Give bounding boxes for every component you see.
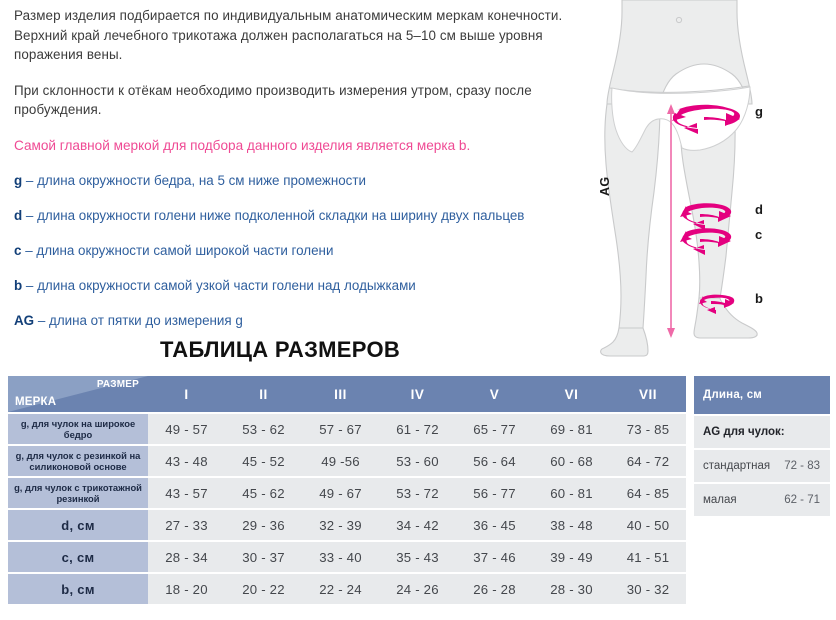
figure-label-b: b <box>755 291 763 306</box>
female-legs-diagram <box>600 0 836 362</box>
cell-r4c2: 33 - 40 <box>302 542 379 572</box>
figure-label-g: g <box>755 104 763 119</box>
cell-r4c3: 35 - 43 <box>379 542 456 572</box>
size-table-title: ТАБЛИЦА РАЗМЕРОВ <box>0 337 560 363</box>
cell-r5c6: 30 - 32 <box>610 574 686 604</box>
cell-r4c1: 30 - 37 <box>225 542 302 572</box>
cell-r5c3: 24 - 26 <box>379 574 456 604</box>
ag-arrow-head-bottom <box>667 328 675 338</box>
definition-text-b: длина окружности самой узкой части голен… <box>37 278 416 293</box>
cell-r3c0: 27 - 33 <box>148 510 225 540</box>
cell-r3c2: 32 - 39 <box>302 510 379 540</box>
cell-r3c6: 40 - 50 <box>610 510 686 540</box>
figure-label-c: c <box>755 227 762 242</box>
definition-text-c: длина окружности самой широкой части гол… <box>36 243 333 258</box>
spacer-row <box>694 552 830 584</box>
leg-measurement-illustration: g d c b AG <box>600 0 836 362</box>
definition-g: g – длина окружности бедра, на 5 см ниже… <box>14 172 610 190</box>
cell-r2c5: 60 - 81 <box>533 478 610 508</box>
intro-paragraph-2: При склонности к отёкам необходимо произ… <box>14 81 610 120</box>
cell-r4c6: 41 - 51 <box>610 542 686 572</box>
cell-r3c1: 29 - 36 <box>225 510 302 540</box>
header-label-merka: МЕРКА <box>15 396 56 408</box>
header-size-2: II <box>225 376 302 412</box>
definition-key-d: d <box>14 208 22 223</box>
row-label-d: d, см <box>8 510 148 540</box>
table-row: g, для чулок с резинкой на силиконовой о… <box>8 446 686 476</box>
definition-ag: AG – длина от пятки до измерения g <box>14 312 610 330</box>
list-item: стандартная 72 - 83 <box>694 450 830 482</box>
table-row: d, см 27 - 33 29 - 36 32 - 39 34 - 42 36… <box>8 510 686 540</box>
length-row-standard: стандартная 72 - 83 <box>694 450 830 482</box>
definition-text-g: длина окружности бедра, на 5 см ниже про… <box>37 173 366 188</box>
cell-r1c0: 43 - 48 <box>148 446 225 476</box>
spacer-cell <box>694 518 830 550</box>
length-row-small-name: малая <box>703 494 737 506</box>
cell-r3c3: 34 - 42 <box>379 510 456 540</box>
row-label-c: c, см <box>8 542 148 572</box>
size-table-header-row: РАЗМЕР МЕРКА I II III IV V VI VII <box>8 376 686 412</box>
table-row: g, для чулок на широкое бедро 49 - 57 53… <box>8 414 686 444</box>
cell-r5c0: 18 - 20 <box>148 574 225 604</box>
cell-r0c4: 65 - 77 <box>456 414 533 444</box>
header-size-5: V <box>456 376 533 412</box>
definition-dash-d: – <box>26 208 33 223</box>
header-size-7: VII <box>610 376 686 412</box>
definition-key-ag: AG <box>14 313 34 328</box>
cell-r1c5: 60 - 68 <box>533 446 610 476</box>
length-row-small-value: 62 - 71 <box>784 494 829 506</box>
cell-r0c0: 49 - 57 <box>148 414 225 444</box>
spacer-row <box>694 586 830 618</box>
cell-r2c4: 56 - 77 <box>456 478 533 508</box>
length-header: Длина, см <box>694 376 830 414</box>
cell-r0c1: 53 - 62 <box>225 414 302 444</box>
cell-r3c5: 38 - 48 <box>533 510 610 540</box>
tables-container: РАЗМЕР МЕРКА I II III IV V VI VII g, для… <box>8 374 830 620</box>
cell-r3c4: 36 - 45 <box>456 510 533 540</box>
header-corner-cell: РАЗМЕР МЕРКА <box>8 376 148 412</box>
table-row: c, см 28 - 34 30 - 37 33 - 40 35 - 43 37… <box>8 542 686 572</box>
length-caption: AG для чулок: <box>694 416 830 448</box>
spacer-cell <box>694 552 830 584</box>
definition-key-c: c <box>14 243 21 258</box>
cell-r0c3: 61 - 72 <box>379 414 456 444</box>
cell-r1c2: 49 -56 <box>302 446 379 476</box>
cell-r5c2: 22 - 24 <box>302 574 379 604</box>
header-label-razmer: РАЗМЕР <box>97 379 139 390</box>
table-row: g, для чулок с трикотажной резинкой 43 -… <box>8 478 686 508</box>
cell-r4c4: 37 - 46 <box>456 542 533 572</box>
list-item: AG для чулок: <box>694 416 830 448</box>
intro-paragraph-1: Размер изделия подбирается по индивидуал… <box>14 6 610 65</box>
definition-key-g: g <box>14 173 22 188</box>
header-size-1: I <box>148 376 225 412</box>
size-chart-page: Размер изделия подбирается по индивидуал… <box>0 0 836 571</box>
spacer-cell <box>694 586 830 618</box>
header-size-4: IV <box>379 376 456 412</box>
row-label-g-knit-band: g, для чулок с трикотажной резинкой <box>8 478 148 508</box>
table-row: b, см 18 - 20 20 - 22 22 - 24 24 - 26 26… <box>8 574 686 604</box>
definition-c: c – длина окружности самой широкой части… <box>14 242 610 260</box>
definition-dash-b: – <box>26 278 33 293</box>
cell-r2c0: 43 - 57 <box>148 478 225 508</box>
spacer-row <box>694 518 830 550</box>
intro-text-column: Размер изделия подбирается по индивидуал… <box>14 6 610 347</box>
length-row-standard-name: стандартная <box>703 460 770 472</box>
header-size-3: III <box>302 376 379 412</box>
length-row-small: малая 62 - 71 <box>694 484 830 516</box>
row-label-g-silicone-band: g, для чулок с резинкой на силиконовой о… <box>8 446 148 476</box>
cell-r2c2: 49 - 67 <box>302 478 379 508</box>
cell-r1c6: 64 - 72 <box>610 446 686 476</box>
list-item: малая 62 - 71 <box>694 484 830 516</box>
cell-r0c2: 57 - 67 <box>302 414 379 444</box>
body-silhouette <box>601 0 758 356</box>
definition-dash-g: – <box>26 173 33 188</box>
cell-r1c3: 53 - 60 <box>379 446 456 476</box>
cell-r0c6: 73 - 85 <box>610 414 686 444</box>
definition-dash-c: – <box>25 243 32 258</box>
cell-r1c4: 56 - 64 <box>456 446 533 476</box>
figure-label-d: d <box>755 202 763 217</box>
cell-r1c1: 45 - 52 <box>225 446 302 476</box>
length-table-header-row: Длина, см <box>694 376 830 414</box>
cell-r5c1: 20 - 22 <box>225 574 302 604</box>
cell-r2c6: 64 - 85 <box>610 478 686 508</box>
cell-r5c5: 28 - 30 <box>533 574 610 604</box>
definition-dash-ag: – <box>38 313 45 328</box>
cell-r5c4: 26 - 28 <box>456 574 533 604</box>
definition-b: b – длина окружности самой узкой части г… <box>14 277 610 295</box>
highlight-note: Самой главной меркой для подбора данного… <box>14 136 610 155</box>
definition-text-d: длина окружности голени ниже подколенной… <box>37 208 524 223</box>
header-size-6: VI <box>533 376 610 412</box>
row-label-b: b, см <box>8 574 148 604</box>
cell-r4c5: 39 - 49 <box>533 542 610 572</box>
definition-d: d – длина окружности голени ниже подколе… <box>14 207 610 225</box>
figure-label-ag: AG <box>598 176 612 196</box>
cell-r2c1: 45 - 62 <box>225 478 302 508</box>
length-table: Длина, см AG для чулок: стандартная 72 -… <box>694 374 830 620</box>
cell-r2c3: 53 - 72 <box>379 478 456 508</box>
row-label-g-wide-thigh: g, для чулок на широкое бедро <box>8 414 148 444</box>
length-row-standard-value: 72 - 83 <box>784 460 829 472</box>
cell-r0c5: 69 - 81 <box>533 414 610 444</box>
cell-r4c0: 28 - 34 <box>148 542 225 572</box>
definition-key-b: b <box>14 278 22 293</box>
size-table: РАЗМЕР МЕРКА I II III IV V VI VII g, для… <box>8 374 686 606</box>
definition-text-ag: длина от пятки до измерения g <box>49 313 243 328</box>
